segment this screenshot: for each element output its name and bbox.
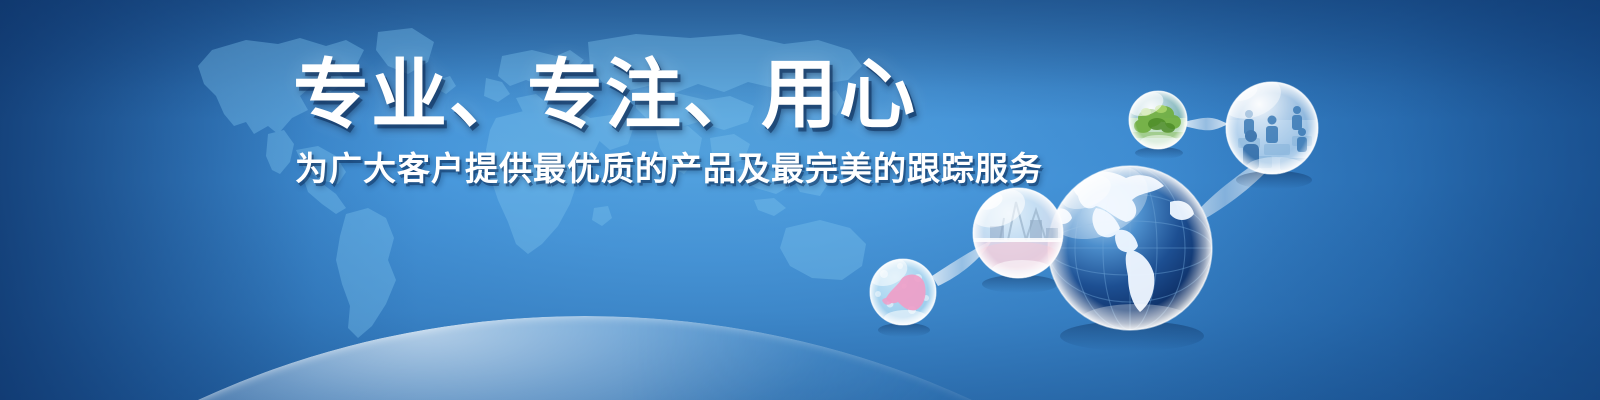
sphere-map <box>865 253 936 326</box>
globe-sphere-main <box>1037 151 1212 340</box>
hero-banner: 专业、专注、用心 为广大客户提供最优质的产品及最完美的跟踪服务 <box>0 0 1600 400</box>
sphere-harbor <box>966 182 1063 280</box>
sphere-cluster-graphic <box>840 60 1360 370</box>
sphere-nature <box>1125 88 1187 149</box>
sphere-people <box>1217 70 1318 182</box>
connector-nature-people <box>1184 118 1228 131</box>
